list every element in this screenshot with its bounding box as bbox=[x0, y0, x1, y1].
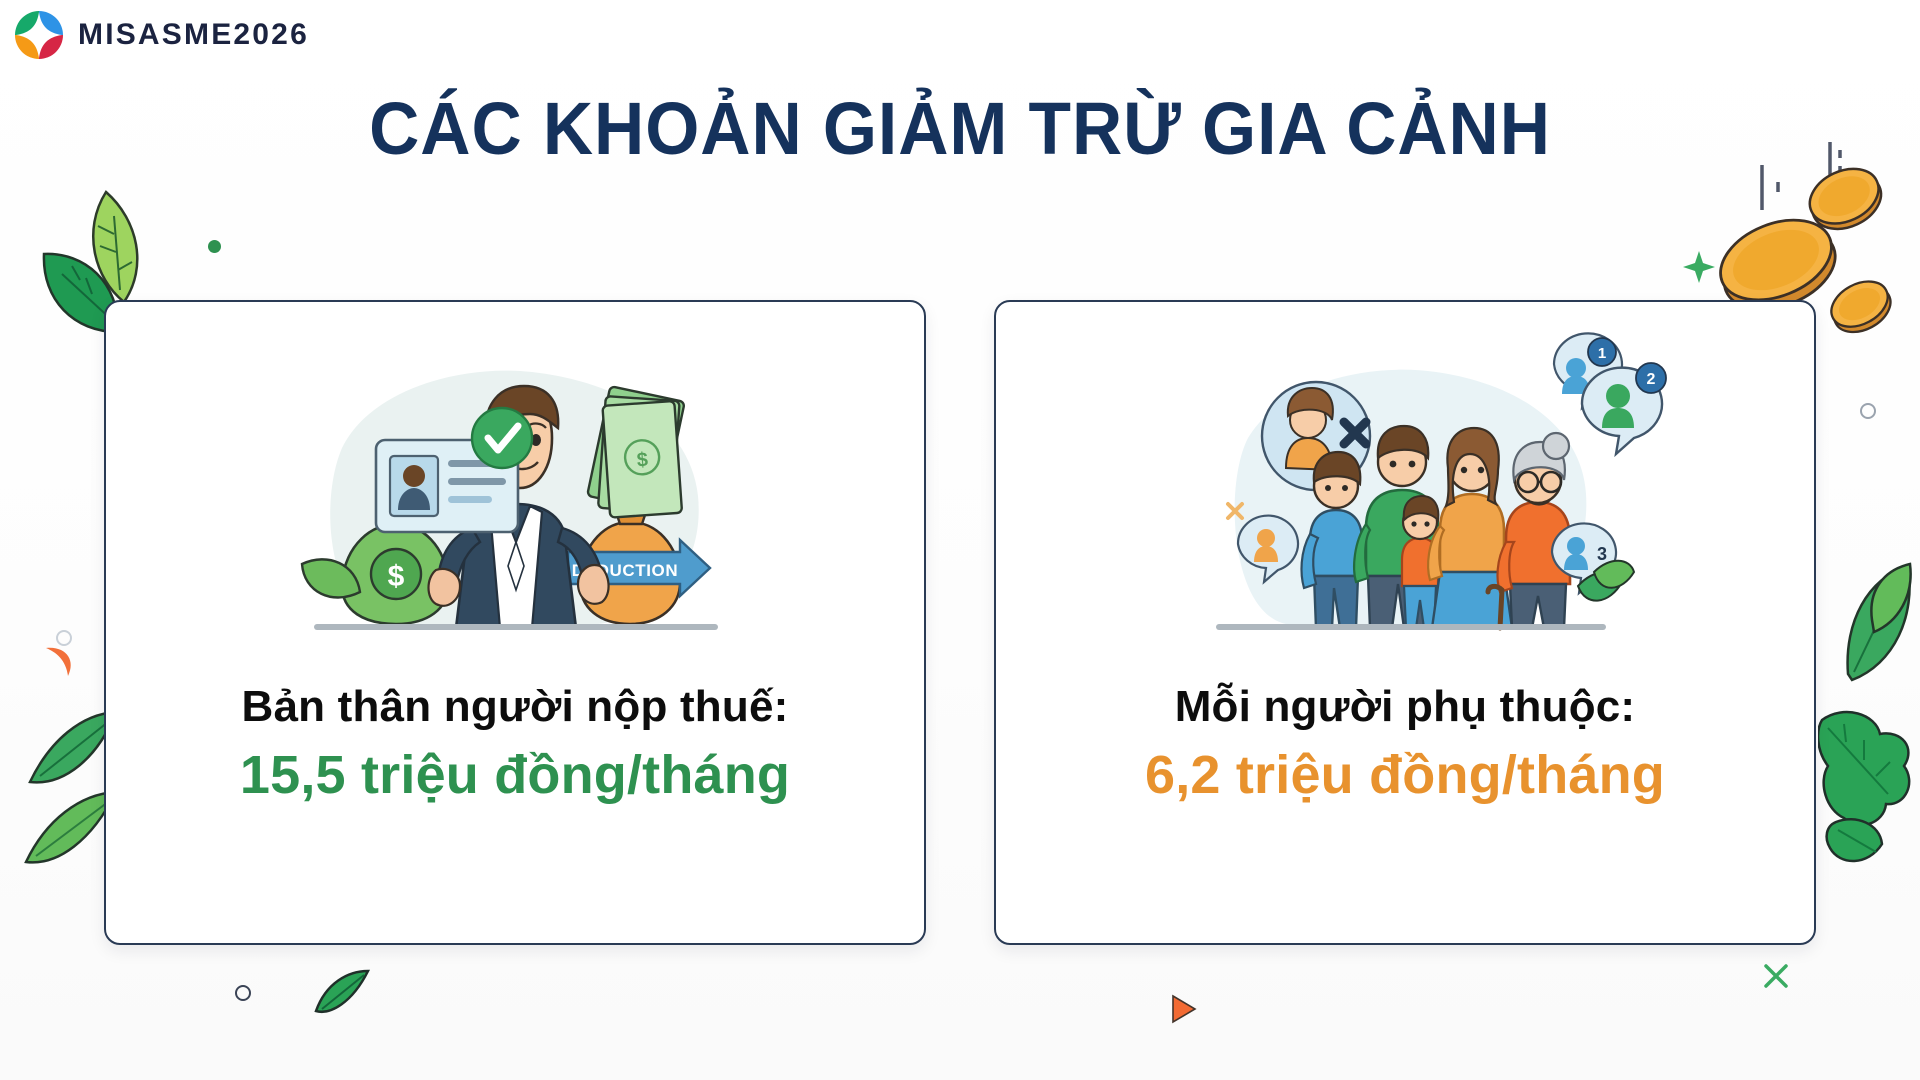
infographic-canvas: MISASME2026 CÁC KHOẢN GIẢM TRỪ GIA CẢNH bbox=[0, 0, 1920, 1080]
page-title: CÁC KHOẢN GIẢM TRỪ GIA CẢNH bbox=[58, 86, 1863, 172]
brand-name: MISASME2026 bbox=[78, 18, 309, 52]
brand-logo-group: MISASME2026 bbox=[14, 10, 309, 60]
leaf-bottom-center-icon bbox=[310, 965, 376, 1027]
svg-text:3: 3 bbox=[1597, 544, 1607, 564]
card-dependent-label: Mỗi người phụ thuộc: bbox=[1175, 682, 1636, 732]
card-dependent[interactable]: 1 3 bbox=[994, 300, 1816, 945]
card-taxpayer-label: Bản thân người nộp thuế: bbox=[242, 682, 789, 732]
svg-text:$: $ bbox=[636, 449, 649, 472]
misa-four-quadrant-logo-icon bbox=[14, 10, 64, 60]
illustration-dependent: 1 3 bbox=[1170, 328, 1640, 668]
deduction-cards-row: $ DEDUCTION bbox=[0, 300, 1920, 945]
businessman-holding-id-card-and-money-icon: $ DEDUCTION bbox=[280, 328, 750, 668]
green-check-badge-icon bbox=[472, 408, 532, 468]
svg-text:$: $ bbox=[388, 560, 405, 593]
x-mark-bottom-right-decor bbox=[1760, 960, 1792, 992]
outline-ring-bottom-decor bbox=[235, 985, 251, 1001]
card-taxpayer-value: 15,5 triệu đồng/tháng bbox=[240, 744, 790, 806]
svg-text:2: 2 bbox=[1647, 371, 1656, 388]
green-dot-decor bbox=[208, 240, 221, 253]
card-dependent-value: 6,2 triệu đồng/tháng bbox=[1145, 744, 1665, 806]
card-taxpayer[interactable]: $ DEDUCTION bbox=[104, 300, 926, 945]
person-bubble-2-icon: 2 bbox=[1568, 356, 1688, 466]
illustration-taxpayer: $ DEDUCTION bbox=[280, 328, 750, 668]
sparkle-green-decor bbox=[1682, 250, 1716, 284]
orange-triangle-decor bbox=[1165, 990, 1201, 1028]
